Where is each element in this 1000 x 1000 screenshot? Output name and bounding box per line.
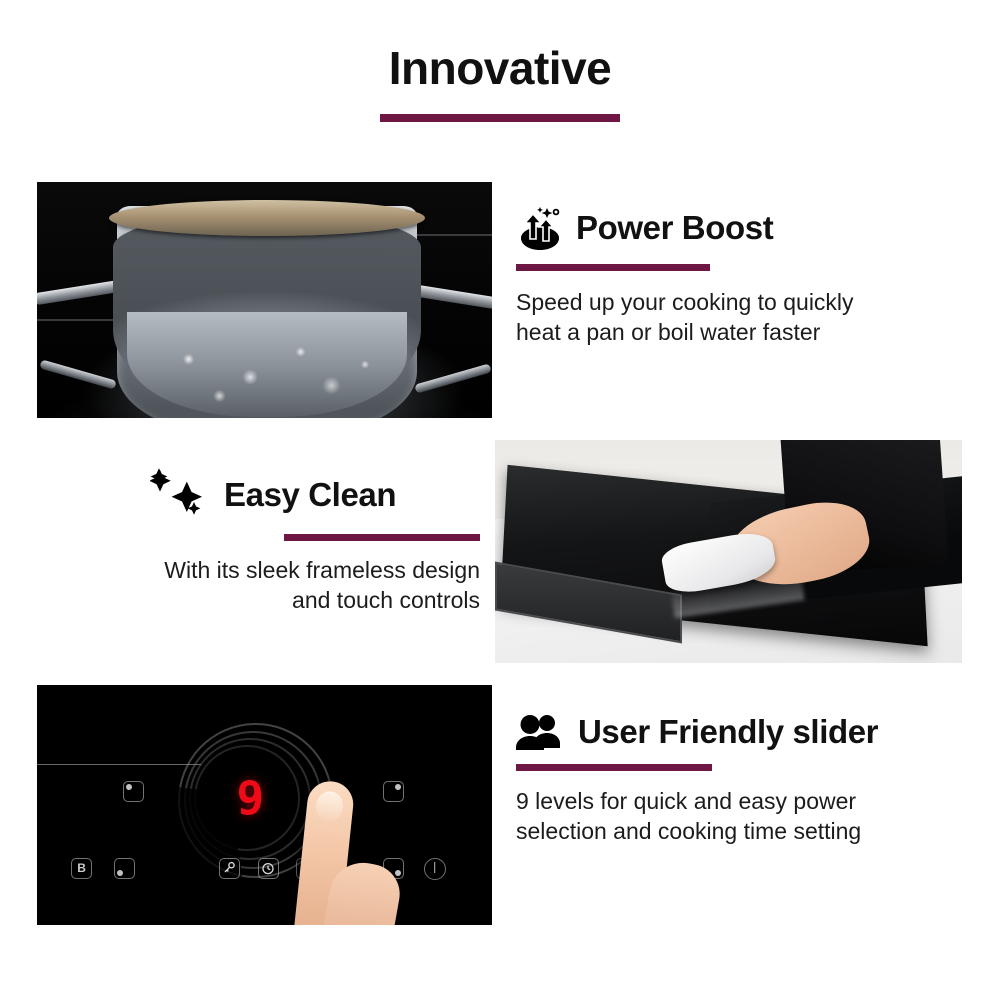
feature-description: Speed up your cooking to quickly heat a …	[516, 287, 886, 348]
feature-infographic-page: Innovative	[0, 0, 1000, 1000]
zone-button-top-right[interactable]	[383, 781, 404, 802]
zone-indicator-dot	[117, 870, 123, 876]
control-panel-photo: 9 B	[37, 685, 492, 925]
feature-underline	[284, 534, 480, 541]
zone-button-bottom-left[interactable]	[114, 858, 135, 879]
feature-power-boost: Power Boost Speed up your cooking to qui…	[516, 205, 946, 348]
page-title: Innovative	[0, 42, 1000, 95]
pot-boost-icon	[516, 205, 564, 251]
zone-indicator-dot	[126, 784, 132, 790]
feature-underline	[516, 764, 712, 771]
feature-description: 9 levels for quick and easy power select…	[516, 786, 936, 847]
feature-title: User Friendly slider	[578, 715, 878, 750]
power-level-display: 9	[236, 771, 265, 825]
feature-title: Easy Clean	[224, 478, 396, 513]
feature-easy-clean: Easy Clean With its sleek frameless desi…	[150, 468, 480, 616]
feature-title: Power Boost	[576, 211, 773, 246]
feature-description: With its sleek frameless design and touc…	[150, 555, 480, 616]
feature-underline	[516, 264, 710, 271]
feature-user-friendly-slider: User Friendly slider 9 levels for quick …	[516, 712, 966, 847]
power-button[interactable]	[424, 858, 446, 880]
zone-indicator-dot	[395, 870, 401, 876]
sparkles-icon	[150, 468, 212, 522]
boiling-pot-photo	[37, 182, 492, 418]
pot-rim	[109, 200, 425, 236]
wiping-cooktop-photo	[495, 440, 962, 663]
users-icon	[516, 712, 566, 752]
lock-button[interactable]	[219, 858, 240, 879]
boost-button[interactable]: B	[71, 858, 92, 879]
title-underline	[380, 114, 620, 122]
timer-button[interactable]	[258, 858, 279, 879]
zone-button-top-left[interactable]	[123, 781, 144, 802]
zone-indicator-dot	[395, 784, 401, 790]
